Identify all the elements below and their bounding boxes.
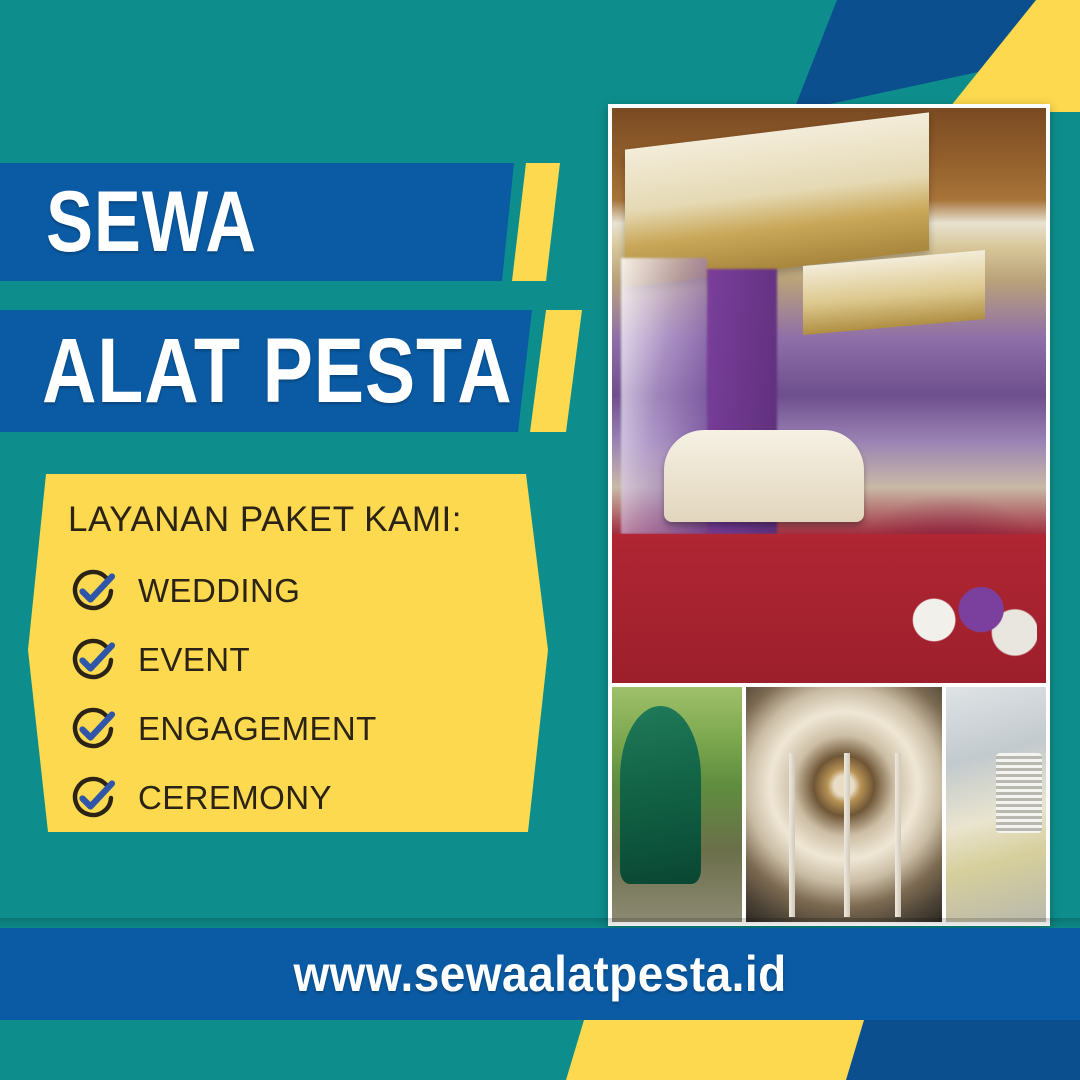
accent-sliver-top bbox=[512, 163, 560, 281]
list-item: WEDDING bbox=[68, 556, 548, 625]
services-panel: LAYANAN PAKET KAMI: WEDDING bbox=[28, 474, 548, 832]
services-title: LAYANAN PAKET KAMI: bbox=[68, 500, 548, 540]
catering-equipment-photo bbox=[946, 687, 1046, 922]
photo-collage-frame bbox=[608, 104, 1050, 926]
check-circle-icon bbox=[68, 635, 118, 685]
website-url[interactable]: www.sewaalatpesta.id bbox=[293, 945, 786, 1003]
service-label: CEREMONY bbox=[138, 779, 332, 817]
bottom-strip-yellow bbox=[566, 1020, 866, 1080]
photo-collage bbox=[612, 108, 1046, 922]
service-label: EVENT bbox=[138, 641, 250, 679]
tent-ceiling-draping-photo bbox=[746, 687, 942, 922]
headline-bar-primary: SEWA bbox=[0, 163, 514, 281]
headline-line-1: SEWA bbox=[46, 173, 257, 272]
list-item: EVENT bbox=[68, 625, 548, 694]
website-url-bar[interactable]: www.sewaalatpesta.id bbox=[0, 928, 1080, 1020]
photo-thumb-row bbox=[612, 687, 1046, 922]
list-item: ENGAGEMENT bbox=[68, 694, 548, 763]
service-label: ENGAGEMENT bbox=[138, 710, 377, 748]
promo-poster: SEWA ALAT PESTA LAYANAN PAKET KAMI: WEDD… bbox=[0, 0, 1080, 1080]
headline-line-2: ALAT PESTA bbox=[42, 319, 513, 424]
accent-sliver-bottom bbox=[530, 310, 582, 432]
check-circle-icon bbox=[68, 704, 118, 754]
wedding-stage-pelaminan-photo bbox=[612, 108, 1046, 683]
service-label: WEDDING bbox=[138, 572, 300, 610]
check-circle-icon bbox=[68, 566, 118, 616]
bottom-strip-blue bbox=[846, 1020, 1080, 1080]
check-circle-icon bbox=[68, 773, 118, 823]
list-item: CEREMONY bbox=[68, 763, 548, 832]
headline-bar-secondary: ALAT PESTA bbox=[0, 310, 532, 432]
green-draped-tent-photo bbox=[612, 687, 742, 922]
services-list: WEDDING EVENT ENGAGEME bbox=[68, 556, 548, 832]
